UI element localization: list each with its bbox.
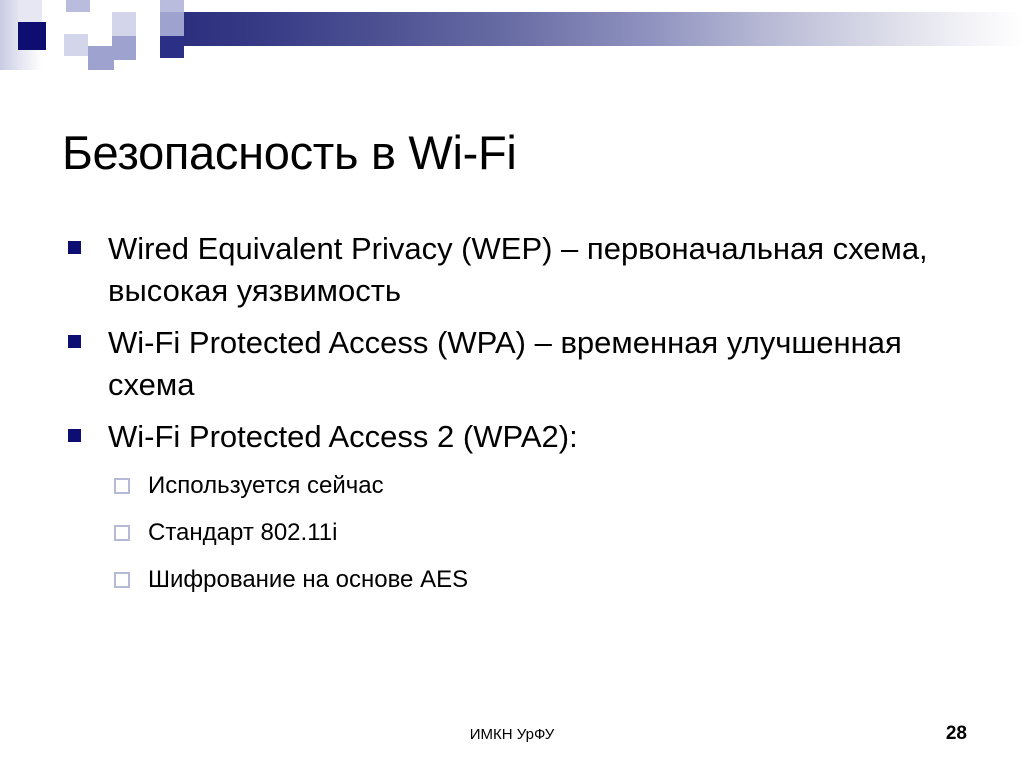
sub-bullet-text: Используется сейчас xyxy=(148,472,384,499)
sub-bullet-item: Шифрование на основе AES xyxy=(114,564,982,595)
deco-square-2 xyxy=(66,0,90,12)
deco-square-3 xyxy=(160,0,184,12)
deco-square-6 xyxy=(64,34,88,56)
deco-square-5 xyxy=(160,12,184,36)
sub-bullet-list: Используется сейчас Стандарт 802.11i Шиф… xyxy=(62,470,982,596)
hollow-square-icon xyxy=(114,525,130,541)
bullet-square-icon xyxy=(68,429,81,442)
deco-square-4 xyxy=(112,12,136,36)
header-gradient-bar xyxy=(184,12,1024,46)
slide-header-decoration xyxy=(0,0,1024,70)
sub-bullet-item: Стандарт 802.11i xyxy=(114,517,982,548)
bullet-item: Wired Equivalent Privacy (WEP) – первона… xyxy=(62,228,982,311)
deco-square-9 xyxy=(88,46,114,70)
bullet-text: Wired Equivalent Privacy (WEP) – первона… xyxy=(108,231,928,308)
bullet-square-icon xyxy=(68,241,81,254)
sub-bullet-item: Используется сейчас xyxy=(114,470,982,501)
deco-square-1 xyxy=(18,0,42,24)
slide-page-number: 28 xyxy=(946,723,967,745)
hollow-square-icon xyxy=(114,572,130,588)
footer-organization: ИМКН УрФУ xyxy=(0,726,1024,743)
bullet-item: Wi-Fi Protected Access 2 (WPA2): xyxy=(62,416,982,458)
sub-bullet-text: Шифрование на основе AES xyxy=(148,566,468,593)
presentation-slide: Безопасность в Wi-Fi Wired Equivalent Pr… xyxy=(0,0,1024,768)
slide-body: Wired Equivalent Privacy (WEP) – первона… xyxy=(62,228,982,595)
page-title: Безопасность в Wi-Fi xyxy=(62,128,962,179)
deco-square-8 xyxy=(160,36,184,58)
sub-bullet-text: Стандарт 802.11i xyxy=(148,519,337,546)
bullet-square-icon xyxy=(68,335,81,348)
deco-square-navy xyxy=(18,22,46,50)
bullet-text: Wi-Fi Protected Access 2 (WPA2): xyxy=(108,419,578,454)
bullet-item: Wi-Fi Protected Access (WPA) – временная… xyxy=(62,322,982,405)
hollow-square-icon xyxy=(114,478,130,494)
deco-square-7 xyxy=(112,36,136,60)
bullet-text: Wi-Fi Protected Access (WPA) – временная… xyxy=(108,325,902,402)
